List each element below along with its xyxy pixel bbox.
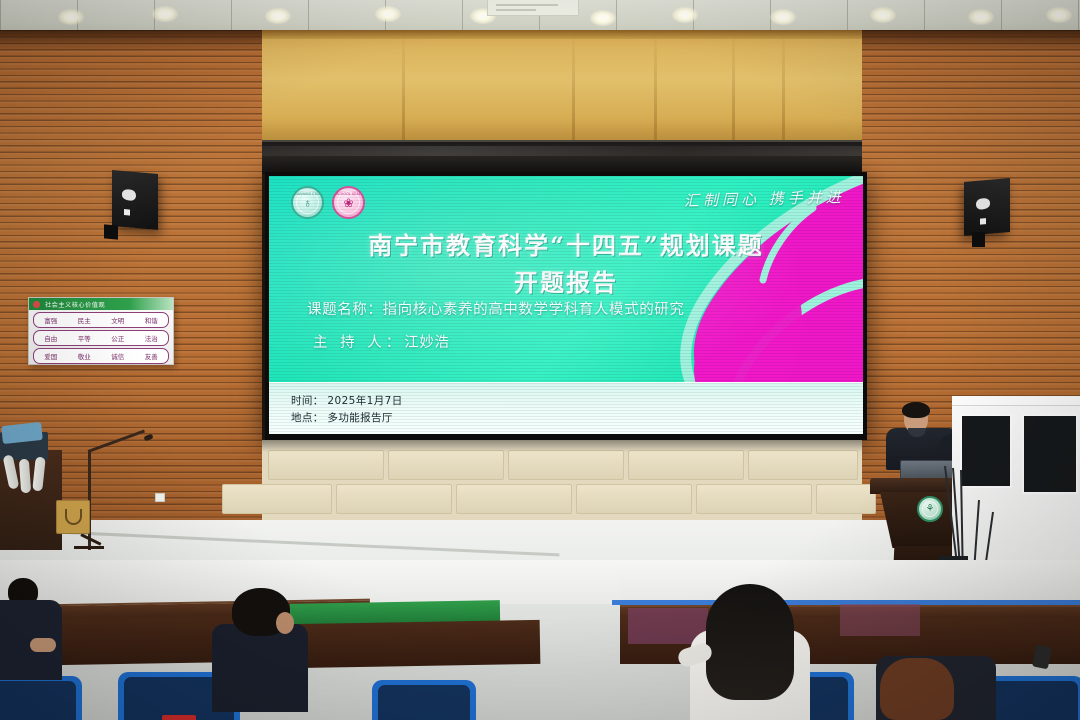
downlight	[1046, 7, 1072, 23]
stage-header-beam	[262, 140, 862, 174]
poster-header: 社会主义核心价值观	[29, 298, 173, 310]
wall-speaker-right	[964, 178, 1010, 236]
downlight	[375, 6, 401, 22]
chair	[372, 680, 476, 720]
ceiling-vent-panel	[487, 0, 579, 16]
speaker-bracket-right	[972, 232, 985, 247]
poster-row: 富强 民主 文明 和谐	[33, 312, 169, 328]
slide-logos: NANNING EDU ♁ SCHOOL SEAL ❀	[291, 186, 365, 219]
audience-person-hair	[880, 658, 954, 720]
downlight	[870, 7, 896, 23]
audience-person-body	[212, 624, 308, 712]
downlight	[968, 9, 994, 25]
desk-pink-reflection	[840, 604, 920, 636]
mobile-phone	[1032, 645, 1052, 670]
microphone-stand	[62, 432, 142, 552]
right-wall-structure	[952, 396, 1080, 586]
desk-front	[290, 620, 541, 668]
downlight	[770, 9, 796, 25]
chair-tag	[162, 715, 196, 720]
slide-title-block: 南宁市教育科学“十四五”规划课题 开题报告	[269, 226, 863, 298]
poster-row: 爱国 敬业 诚信 友善	[33, 348, 169, 364]
wall-speaker-left	[112, 170, 158, 230]
slide-subject-line: 课题名称：指向核心素养的高中数学学科育人模式的研究	[307, 298, 827, 319]
presenter-hair	[902, 402, 930, 418]
slide-host-line: 主 持 人：江妙浩	[313, 331, 450, 352]
led-presentation-screen: NANNING EDU ♁ SCHOOL SEAL ❀ 汇制同心 携手并进 南宁…	[265, 172, 867, 440]
slide-calligraphy-motto: 汇制同心 携手并进	[684, 186, 845, 211]
downlight	[265, 8, 291, 24]
slide-content: NANNING EDU ♁ SCHOOL SEAL ❀ 汇制同心 携手并进 南宁…	[269, 176, 863, 434]
audience-person-face	[276, 612, 294, 634]
wall-shadow	[0, 30, 262, 52]
speaker-bracket-left	[104, 224, 118, 239]
poster-row: 自由 平等 公正 法治	[33, 330, 169, 346]
slide-title-line2: 开题报告	[269, 263, 863, 298]
wall-shadow	[862, 30, 1080, 52]
chair	[0, 676, 82, 720]
downlight	[672, 7, 698, 23]
audience-person-hair	[706, 584, 794, 700]
dark-acoustic-panel	[960, 414, 1012, 488]
screen-drop-shadow	[262, 440, 862, 452]
downlight	[58, 9, 84, 25]
slide-subject-value: 指向核心素养的高中数学学科育人模式的研究	[383, 302, 685, 318]
slide-title-line1: 南宁市教育科学“十四五”规划课题	[269, 226, 863, 261]
poster-emblem-icon	[33, 301, 40, 308]
logo-pink-school-icon: SCHOOL SEAL ❀	[332, 186, 365, 219]
audience-area: 周代许	[0, 560, 1080, 720]
downlight	[590, 10, 616, 26]
wall-socket	[155, 493, 165, 502]
audience-person-hand	[30, 638, 56, 652]
slide-subject-label: 课题名称：	[307, 302, 383, 318]
slide-info-time: 时间： 2025年1月7日	[291, 393, 403, 408]
podium-school-emblem-icon: ⚘	[917, 496, 943, 522]
slide-host-label: 主 持 人：	[313, 335, 404, 351]
floor-sign	[56, 500, 90, 534]
logo-teal-bird-icon: NANNING EDU ♁	[291, 186, 324, 219]
core-values-poster: 社会主义核心价值观 富强 民主 文明 和谐 自由 平等 公正 法治 爱国 敬业 …	[28, 297, 174, 365]
slide-info-bar: 时间： 2025年1月7日 地点： 多功能报告厅	[269, 382, 863, 434]
slide-info-place: 地点： 多功能报告厅	[291, 410, 393, 425]
upper-wall-panel	[262, 30, 862, 140]
dark-acoustic-panel	[1022, 414, 1078, 494]
conference-hall-photo: NANNING EDU ♁ SCHOOL SEAL ❀ 汇制同心 携手并进 南宁…	[0, 0, 1080, 720]
downlight	[152, 6, 178, 22]
slide-host-value: 江妙浩	[404, 335, 449, 351]
